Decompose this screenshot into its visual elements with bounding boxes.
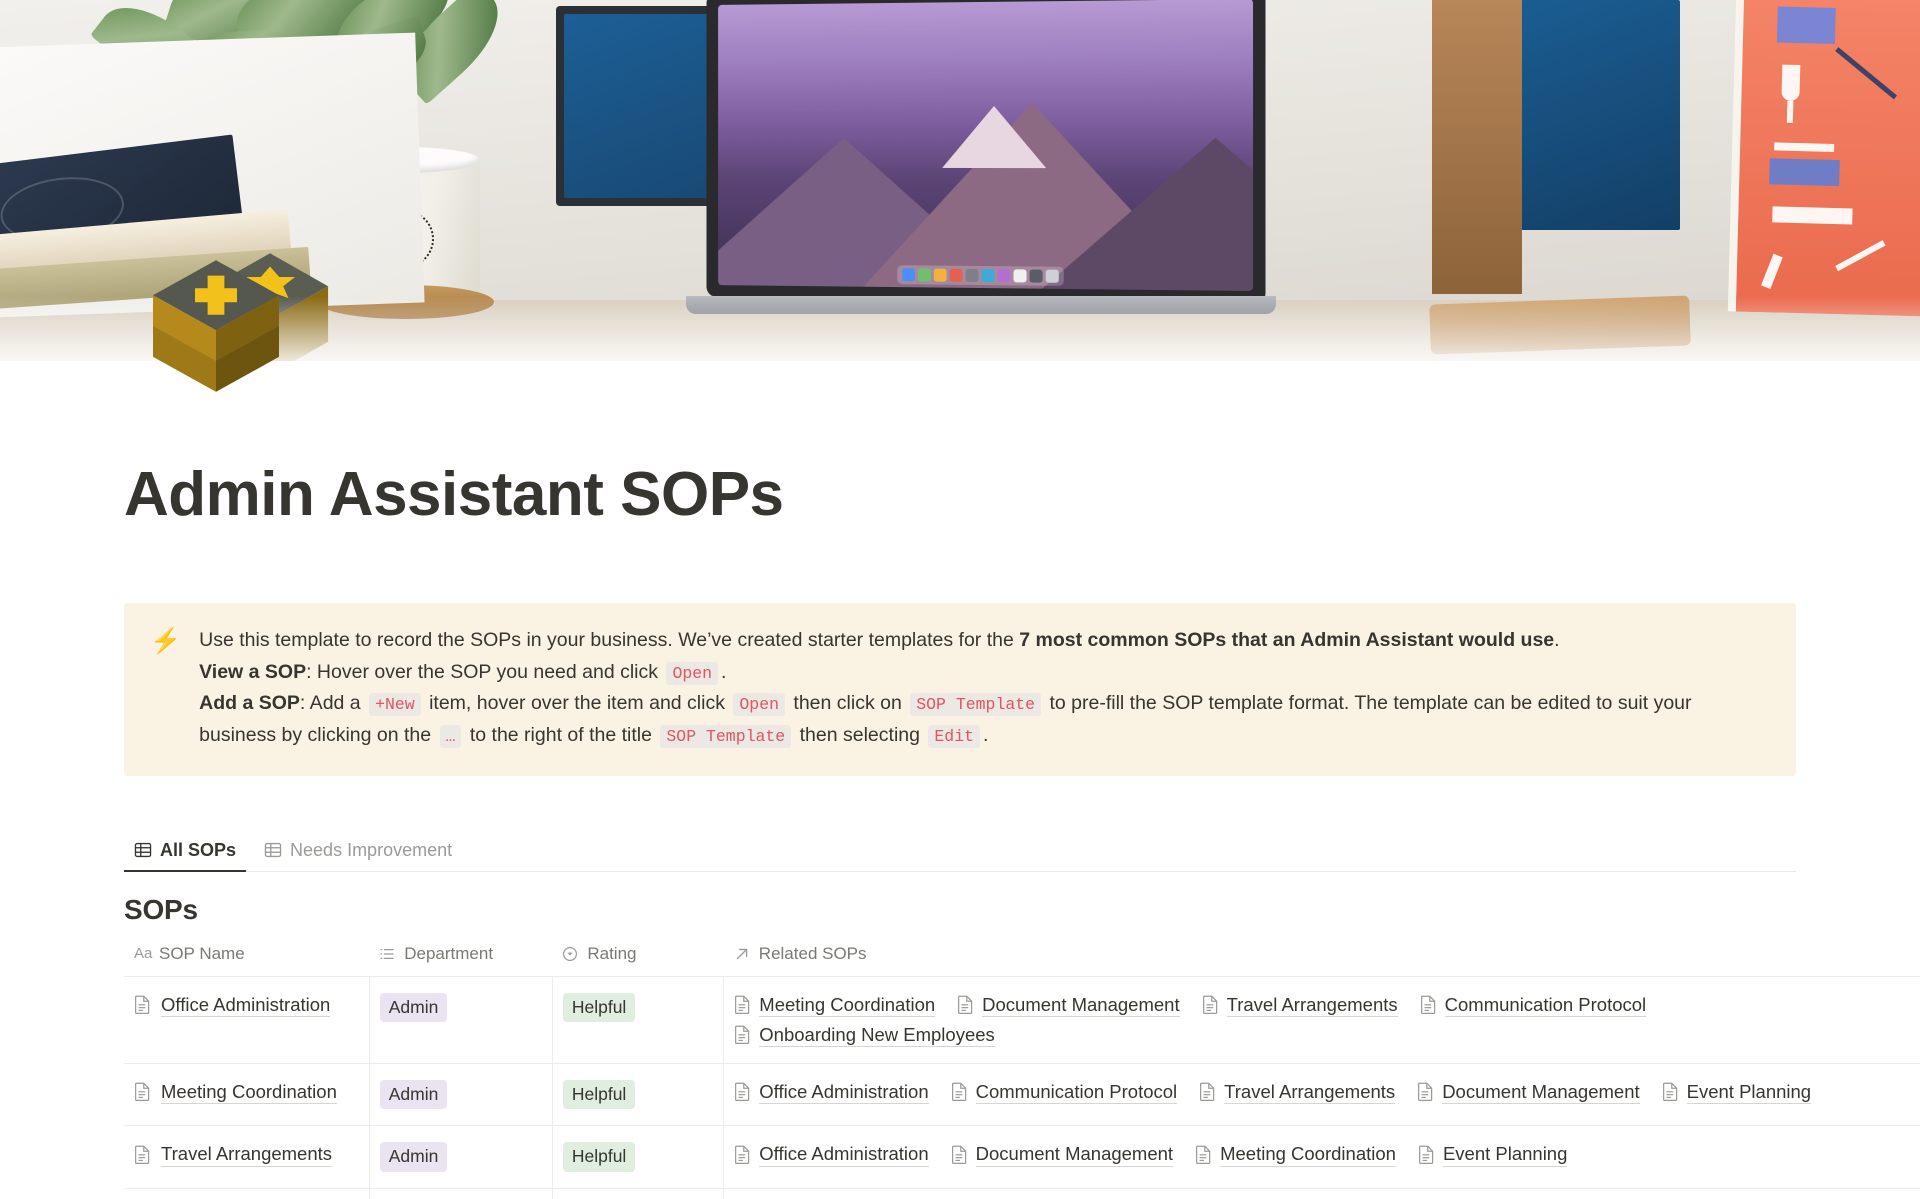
related-sop-label: Meeting Coordination [759, 993, 935, 1017]
related-sop-label: Office Administration [759, 1080, 928, 1104]
code-open-2: Open [733, 693, 785, 716]
cell-rating[interactable]: Helpful [552, 1189, 723, 1199]
related-sop-chip[interactable]: Travel Arrangements [1202, 993, 1398, 1017]
related-sop-label: Event Planning [1687, 1080, 1811, 1104]
department-badge: Admin [380, 993, 448, 1023]
column-header-department[interactable]: Department [369, 938, 552, 977]
cell-department[interactable]: Admin [369, 1126, 552, 1189]
table-row[interactable]: Meeting CoordinationAdminHelpfulOffice A… [124, 1063, 1920, 1126]
related-sop-chip[interactable]: Meeting Coordination [1195, 1142, 1396, 1166]
page-document-icon [1417, 1082, 1434, 1101]
related-sop-label: Event Planning [1443, 1142, 1567, 1166]
related-sop-chip[interactable]: Document Management [1417, 1080, 1639, 1104]
callout-l3-e: to the right of the title [464, 724, 657, 746]
database-title[interactable]: SOPs [124, 894, 1796, 926]
sops-table: AaSOP NameDepartmentRatingRelated SOPs O… [124, 938, 1920, 1199]
tab-needs-improvement[interactable]: Needs Improvement [254, 834, 462, 871]
rating-badge: Helpful [563, 1080, 635, 1110]
page-document-icon [951, 1145, 968, 1164]
column-header-label: SOP Name [159, 944, 245, 964]
table-row[interactable]: Travel ArrangementsAdminHelpfulOffice Ad… [124, 1126, 1920, 1189]
callout-l1-post: . [1554, 629, 1559, 651]
page-document-icon [134, 995, 151, 1014]
column-header-label: Related SOPs [759, 944, 867, 964]
cell-sop-name[interactable]: Meeting Coordination [124, 1063, 369, 1126]
related-sop-label: Meeting Coordination [1220, 1142, 1396, 1166]
table-row[interactable]: Document ManagementAdminHelpfulOffice Ad… [124, 1189, 1920, 1199]
cell-rating[interactable]: Helpful [552, 1063, 723, 1126]
table-body: Office AdministrationAdminHelpfulMeeting… [124, 976, 1920, 1199]
code-open: Open [666, 662, 718, 685]
cell-rating[interactable]: Helpful [552, 976, 723, 1063]
callout-l3-a: : Add a [300, 692, 366, 714]
related-sop-label: Document Management [982, 993, 1179, 1017]
callout-l3-bold: Add a SOP [199, 692, 300, 714]
callout-l3-f: then selecting [794, 724, 925, 746]
related-sop-label: Document Management [976, 1142, 1173, 1166]
database-view-tabs: All SOPsNeeds Improvement [124, 834, 1796, 872]
related-sop-chip[interactable]: Event Planning [1418, 1142, 1567, 1166]
tab-label: All SOPs [160, 840, 236, 861]
table-icon [134, 841, 152, 859]
table-header: AaSOP NameDepartmentRatingRelated SOPs [124, 938, 1920, 977]
sop-name-link[interactable]: Meeting Coordination [161, 1080, 337, 1104]
page-document-icon [134, 1145, 151, 1164]
callout-block: ⚡ Use this template to record the SOPs i… [124, 603, 1796, 775]
callout-l2-bold: View a SOP [199, 661, 306, 683]
column-header-rating[interactable]: Rating [552, 938, 723, 977]
code-edit: Edit [928, 725, 980, 748]
callout-line-1: Use this template to record the SOPs in … [199, 625, 1770, 657]
column-header-label: Department [404, 944, 493, 964]
page-document-icon [1199, 1082, 1216, 1101]
code-ellipsis: … [440, 725, 462, 748]
page-document-icon [1420, 995, 1437, 1014]
cell-related-sops[interactable]: Office AdministrationDocument Management… [724, 1126, 1920, 1189]
callout-line-3: Add a SOP: Add a +New item, hover over t… [199, 688, 1770, 751]
title-text-icon: Aa [134, 946, 150, 962]
related-sop-chip[interactable]: Document Management [951, 1142, 1173, 1166]
page-document-icon [734, 1082, 751, 1101]
relation-arrow-icon [734, 946, 750, 962]
callout-text: Use this template to record the SOPs in … [199, 625, 1770, 751]
related-sop-label: Communication Protocol [1445, 993, 1647, 1017]
related-sop-chip[interactable]: Onboarding New Employees [734, 1023, 995, 1047]
select-icon [562, 946, 578, 962]
sop-name-link[interactable]: Office Administration [161, 993, 330, 1017]
related-sop-label: Document Management [1442, 1080, 1639, 1104]
related-sop-chip[interactable]: Communication Protocol [1420, 993, 1647, 1017]
page-document-icon [1418, 1145, 1435, 1164]
page-document-icon [957, 995, 974, 1014]
callout-l3-g: . [983, 724, 988, 746]
cell-related-sops[interactable]: Meeting CoordinationDocument ManagementT… [724, 976, 1920, 1063]
table-icon [264, 841, 282, 859]
page-content: Admin Assistant SOPs ⚡ Use this template… [0, 361, 1920, 1199]
department-badge: Admin [380, 1142, 448, 1172]
related-sop-chip[interactable]: Travel Arrangements [1199, 1080, 1395, 1104]
page-document-icon [951, 1082, 968, 1101]
callout-line-2: View a SOP: Hover over the SOP you need … [199, 657, 1770, 689]
sop-name-link[interactable]: Travel Arrangements [161, 1142, 332, 1166]
related-sop-chip[interactable]: Office Administration [734, 1080, 928, 1104]
rating-badge: Helpful [563, 993, 635, 1023]
related-sop-chip[interactable]: Communication Protocol [951, 1080, 1178, 1104]
page-document-icon [1662, 1082, 1679, 1101]
related-sop-chip[interactable]: Office Administration [734, 1142, 928, 1166]
cell-sop-name[interactable]: Office Administration [124, 976, 369, 1063]
rating-badge: Helpful [563, 1142, 635, 1172]
callout-l2-b: . [721, 661, 726, 683]
column-header-related-sops[interactable]: Related SOPs [724, 938, 1920, 977]
page-document-icon [734, 1025, 751, 1044]
cell-department[interactable]: Admin [369, 1189, 552, 1199]
cell-rating[interactable]: Helpful [552, 1126, 723, 1189]
cell-department[interactable]: Admin [369, 1063, 552, 1126]
related-sop-chip[interactable]: Event Planning [1662, 1080, 1811, 1104]
page-document-icon [1195, 1145, 1212, 1164]
code-sop-template-2: SOP Template [660, 725, 791, 748]
cell-related-sops[interactable]: Office AdministrationCommunication Proto… [724, 1063, 1920, 1126]
callout-l2-a: : Hover over the SOP you need and click [306, 661, 663, 683]
tab-all-sops[interactable]: All SOPs [124, 834, 246, 871]
table-row[interactable]: Office AdministrationAdminHelpfulMeeting… [124, 976, 1920, 1063]
yellow-cross-cube-icon[interactable] [146, 256, 286, 396]
callout-l1-pre: Use this template to record the SOPs in … [199, 629, 1019, 651]
page-document-icon [734, 995, 751, 1014]
code-sop-template: SOP Template [910, 693, 1041, 716]
related-sop-label: Travel Arrangements [1224, 1080, 1395, 1104]
cell-department[interactable]: Admin [369, 976, 552, 1063]
related-sop-label: Travel Arrangements [1227, 993, 1398, 1017]
related-sop-chip[interactable]: Document Management [957, 993, 1179, 1017]
cell-sop-name[interactable]: Travel Arrangements [124, 1126, 369, 1189]
cell-related-sops[interactable]: Office AdministrationMeeting Coordinatio… [724, 1189, 1920, 1199]
related-sop-label: Office Administration [759, 1142, 928, 1166]
code-new: +New [369, 693, 421, 716]
page-document-icon [134, 1082, 151, 1101]
cell-sop-name[interactable]: Document Management [124, 1189, 369, 1199]
callout-l3-c: then click on [788, 692, 907, 714]
page-title: Admin Assistant SOPs [124, 361, 1796, 529]
tab-label: Needs Improvement [290, 840, 452, 861]
callout-l1-bold: 7 most common SOPs that an Admin Assista… [1019, 629, 1554, 651]
multi-select-icon [379, 946, 395, 962]
page-document-icon [734, 1145, 751, 1164]
column-header-label: Rating [587, 944, 636, 964]
related-sop-label: Communication Protocol [976, 1080, 1178, 1104]
cover-fade [0, 0, 1920, 361]
department-badge: Admin [380, 1080, 448, 1110]
lightning-bolt-icon: ⚡ [150, 625, 181, 751]
database-table-wrapper: AaSOP NameDepartmentRatingRelated SOPs O… [124, 938, 1920, 1199]
related-sop-chip[interactable]: Meeting Coordination [734, 993, 935, 1017]
page-document-icon [1202, 995, 1219, 1014]
table-header-row: AaSOP NameDepartmentRatingRelated SOPs [124, 938, 1920, 977]
column-header-sop-name[interactable]: AaSOP Name [124, 938, 369, 977]
callout-l3-b: item, hover over the item and click [424, 692, 731, 714]
page-cover: ⚡ [0, 0, 1920, 361]
related-sop-label: Onboarding New Employees [759, 1023, 995, 1047]
